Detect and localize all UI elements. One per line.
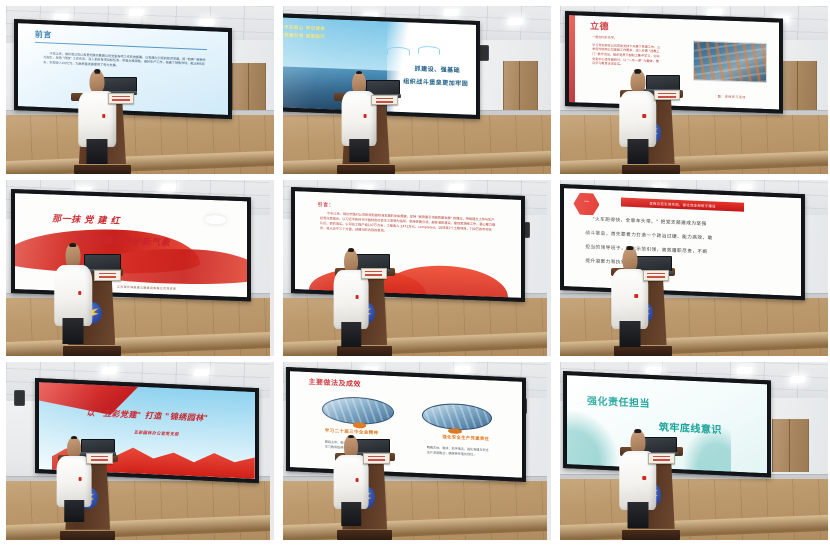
- led-screen: 主要做法及成效 学习二十届三中全会精神 强化安全生产党建责任 围绕主体、载体、载…: [286, 367, 526, 482]
- slide-title: 立德: [590, 19, 609, 33]
- slide-headline-1: 强化责任担当: [587, 392, 650, 410]
- nameplate: [371, 95, 397, 105]
- arc-decoration-icon: [387, 46, 409, 54]
- ceiling-light: [102, 367, 119, 374]
- lapel-badge-icon: [643, 476, 646, 480]
- baseboard: [560, 474, 828, 479]
- ceiling-light: [645, 367, 662, 374]
- podium-base: [60, 531, 115, 540]
- presenter: [611, 247, 649, 347]
- photo-cell-8[interactable]: 主要做法及成效 学习二十届三中全会精神 强化安全生产党建责任 围绕主体、载体、载…: [283, 362, 551, 540]
- lapel-badge-icon: [635, 294, 638, 298]
- dove-icon: [205, 215, 226, 224]
- lapel-badge-icon: [356, 478, 359, 482]
- lapel-badge-icon: [356, 295, 359, 299]
- lapel-badge-icon: [102, 114, 105, 118]
- lapel-badge-icon: [364, 114, 367, 118]
- wall-speaker-icon: [14, 390, 25, 406]
- presenter: [342, 72, 377, 163]
- presenter-hair: [626, 246, 632, 250]
- number-badge-label: 一: [573, 197, 599, 205]
- slide-corner-text-1: 不忘初心 牢记使命: [284, 24, 325, 32]
- podium-base: [74, 165, 132, 174]
- slide-title: 前言: [35, 29, 52, 41]
- photo-cell-1[interactable]: 前言 今年以来，海州湾公司认真贯彻落实集团公司党委各项工作安排部署，以党建为引领…: [6, 6, 274, 174]
- photo-cell-6[interactable]: 一 发挥示范引领作用，强化党支部班子建设 "火车跑得快，全靠车头带。" 把党支部…: [560, 180, 828, 356]
- presenter-shirt: [334, 270, 369, 329]
- presenter: [78, 70, 116, 164]
- door: [780, 61, 817, 110]
- nameplate: [108, 93, 134, 103]
- slide-corner-text-2: 党建引领 砥砺前行: [284, 33, 325, 41]
- podium-base: [337, 530, 392, 540]
- led-screen: 一 发挥示范引领作用，强化党支部班子建设 "火车跑得快，全靠车头带。" 把党支部…: [560, 184, 805, 300]
- presenter-hair: [71, 436, 77, 439]
- ceiling-light: [161, 184, 178, 191]
- ceiling-light: [736, 184, 753, 191]
- glasses-icon: [95, 73, 100, 75]
- presenter-legs: [627, 502, 648, 527]
- presenter-legs: [342, 502, 362, 526]
- slide-inset-photo: [694, 40, 768, 83]
- slide-bullet-2: 学习党支部在公司党委支持下开展了党建工作，三季度传统两公司基础工作要求，深入开展…: [593, 43, 662, 68]
- nameplate: [643, 270, 669, 281]
- podium-base: [614, 346, 672, 356]
- ceiling-light: [448, 184, 465, 191]
- baseboard: [560, 110, 828, 115]
- presenter: [619, 430, 657, 528]
- presenter-legs: [342, 322, 362, 348]
- door: [503, 61, 537, 110]
- ceiling-light: [198, 19, 215, 26]
- ceiling-light: [193, 369, 210, 376]
- door: [772, 419, 809, 472]
- presenter-hair: [356, 71, 362, 74]
- slide-headline-1: 那一抹 党 建 红: [52, 212, 120, 227]
- bamboo-graphic-left: [567, 409, 619, 466]
- lapel-badge-icon: [78, 291, 81, 295]
- nameplate: [654, 90, 680, 100]
- photo-cell-4[interactable]: 那一抹 党 建 红 引领航绿色养护新气象 江苏海州湾高速公路建设有限公司党支部: [6, 180, 274, 356]
- glasses-icon: [635, 73, 640, 75]
- ceiling-light: [507, 18, 524, 25]
- nameplate: [648, 453, 674, 464]
- presenter: [619, 70, 657, 164]
- presenter-legs: [62, 318, 83, 344]
- photo-cell-5[interactable]: 引言： 今年以来，锦达市路对公司新规划高标准发展的未来需要，坚持 "高质量引领高…: [283, 180, 551, 356]
- led-screen: 那一抹 党 建 红 引领航绿色养护新气象 江苏海州湾高速公路建设有限公司党支部: [11, 189, 251, 302]
- nameplate: [86, 453, 112, 464]
- podium-base: [337, 165, 395, 174]
- presenter-legs: [350, 139, 370, 163]
- lapel-badge-icon: [79, 477, 82, 481]
- podium-base: [63, 346, 121, 356]
- led-screen: 引言： 今年以来，锦达市路对公司新规划高标准发展的未来需要，坚持 "高质量引领高…: [291, 187, 525, 302]
- presenter-shirt: [54, 265, 92, 325]
- slide-side-bar: [569, 15, 575, 102]
- door: [232, 63, 266, 110]
- presenter-hair: [348, 248, 354, 252]
- presenter-legs: [627, 139, 648, 163]
- ceiling-light: [736, 367, 753, 374]
- slide-oval-photo-2: [422, 402, 491, 431]
- podium-base: [622, 165, 680, 174]
- presenter-hair: [348, 435, 354, 438]
- ceiling-light: [443, 9, 460, 16]
- photo-cell-3[interactable]: 立德 一是加内外先学。 学习党支部在公司党委支持下开展了党建工作，三季度传统两公…: [560, 6, 828, 174]
- ceiling-light: [454, 366, 471, 373]
- presenter: [57, 437, 92, 522]
- podium-base: [337, 346, 392, 356]
- edge-sliver: [270, 362, 274, 540]
- glasses-icon: [635, 432, 640, 434]
- nameplate: [363, 453, 389, 464]
- lapel-badge-icon: [643, 114, 646, 118]
- ceiling-light: [790, 376, 807, 383]
- edge-sliver: [270, 180, 274, 356]
- presenter-legs: [619, 321, 640, 347]
- photo-contact-sheet: 前言 今年以来，海州湾公司认真贯彻落实集团公司党委各项工作安排部署，以党建为引领…: [0, 0, 830, 546]
- presenter: [334, 249, 369, 348]
- presenter-legs: [87, 139, 108, 163]
- nameplate: [94, 270, 120, 281]
- photo-cell-7[interactable]: 以 "五彩党建" 打造 "锦绣园林" 五彩园林办公室党支部: [6, 362, 274, 540]
- slide-label: 引言：: [318, 201, 335, 209]
- slide-headline-2: 筑牢底线意识: [659, 418, 722, 436]
- photo-cell-2[interactable]: 不忘初心 牢记使命 党建引领 砥砺前行 抓建设、强基础 组织战斗堡垒更加牢固: [283, 6, 551, 174]
- presenter: [54, 243, 92, 343]
- presenter: [334, 435, 369, 526]
- slide-headline-1: 抓建设、强基础: [414, 64, 460, 75]
- photo-cell-9[interactable]: 强化责任担当 筑牢底线意识: [560, 362, 828, 540]
- ceiling-light: [128, 9, 145, 16]
- presenter-legs: [65, 500, 85, 522]
- nameplate: [361, 268, 387, 279]
- edge-sliver: [547, 362, 551, 540]
- presenter-hair: [70, 243, 76, 247]
- edge-sliver: [547, 180, 551, 356]
- arc-decoration-icon: [417, 46, 439, 54]
- podium-base: [622, 530, 680, 540]
